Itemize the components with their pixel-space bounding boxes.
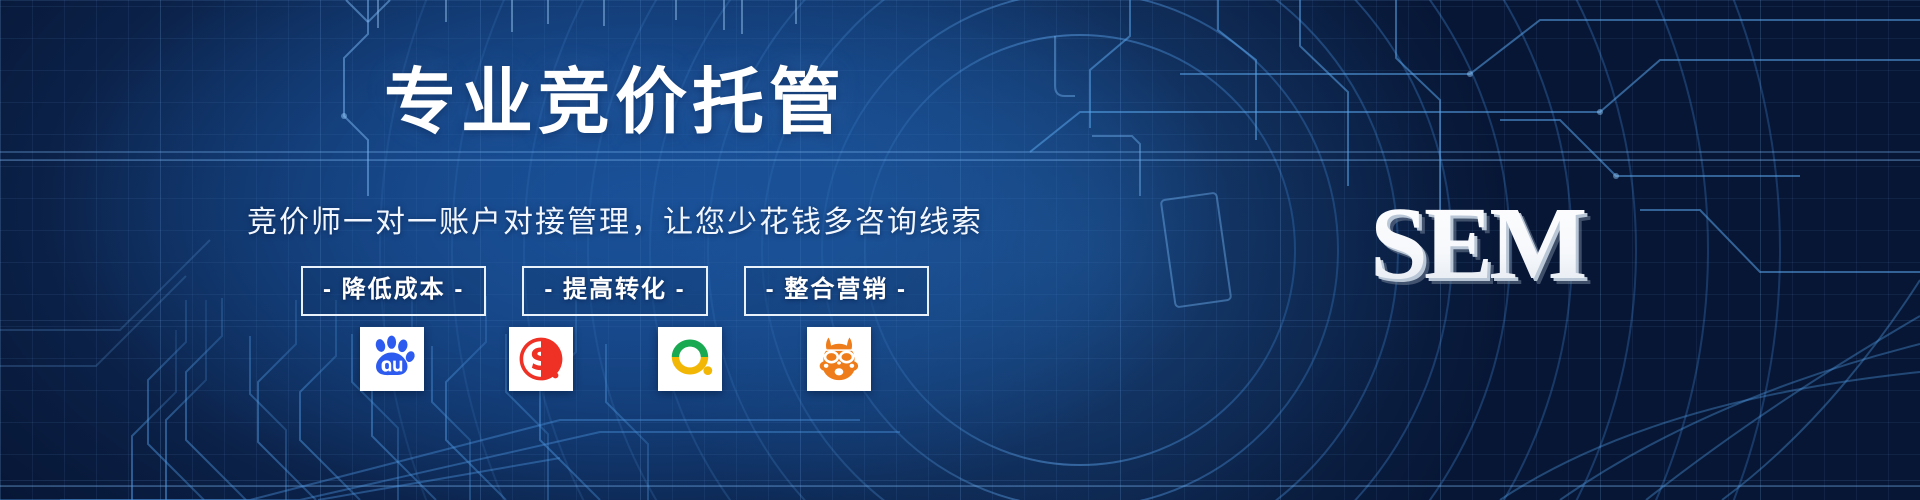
- shenma-logo-icon: [814, 334, 864, 384]
- feature-tag-list: - 降低成本 - - 提高转化 - - 整合营销 -: [0, 266, 1230, 316]
- so360-logo-tile[interactable]: [658, 327, 722, 391]
- tag-prefix-dash: -: [766, 276, 776, 303]
- sem-wordmark: SEM SEM SEM SEM: [1370, 196, 1630, 306]
- feature-tag-lower-cost[interactable]: - 降低成本 -: [301, 266, 486, 316]
- tag-label: 提高转化: [563, 276, 667, 303]
- tag-label: 降低成本: [342, 276, 446, 303]
- sem-wordmark-face: SEM: [1370, 196, 1585, 301]
- feature-tag-integrated-marketing[interactable]: - 整合营销 -: [744, 266, 929, 316]
- tag-suffix-dash: -: [676, 276, 686, 303]
- so360-logo-icon: [665, 334, 715, 384]
- page-title: 专业竞价托管: [0, 62, 1230, 144]
- banner-subtitle: 竞价师一对一账户对接管理，让您少花钱多咨询线索: [0, 203, 1230, 243]
- tag-prefix-dash: -: [323, 276, 333, 303]
- tag-label: 整合营销: [784, 276, 888, 303]
- baidu-logo-tile[interactable]: [360, 327, 424, 391]
- sem-promo-banner: 专业竞价托管 竞价师一对一账户对接管理，让您少花钱多咨询线索 - 降低成本 - …: [0, 0, 1920, 500]
- tag-suffix-dash: -: [454, 276, 464, 303]
- search-engine-logo-list: [0, 327, 1230, 391]
- tag-prefix-dash: -: [544, 276, 554, 303]
- feature-tag-improve-conversion[interactable]: - 提高转化 -: [522, 266, 707, 316]
- sogou-logo-tile[interactable]: [509, 327, 573, 391]
- sem-wordmark-icon: SEM SEM SEM: [1370, 196, 1630, 306]
- tag-suffix-dash: -: [897, 276, 907, 303]
- banner-content: 专业竞价托管 竞价师一对一账户对接管理，让您少花钱多咨询线索 - 降低成本 - …: [0, 0, 1230, 500]
- shenma-logo-tile[interactable]: [807, 327, 871, 391]
- baidu-logo-icon: [367, 334, 417, 384]
- sogou-logo-icon: [516, 334, 566, 384]
